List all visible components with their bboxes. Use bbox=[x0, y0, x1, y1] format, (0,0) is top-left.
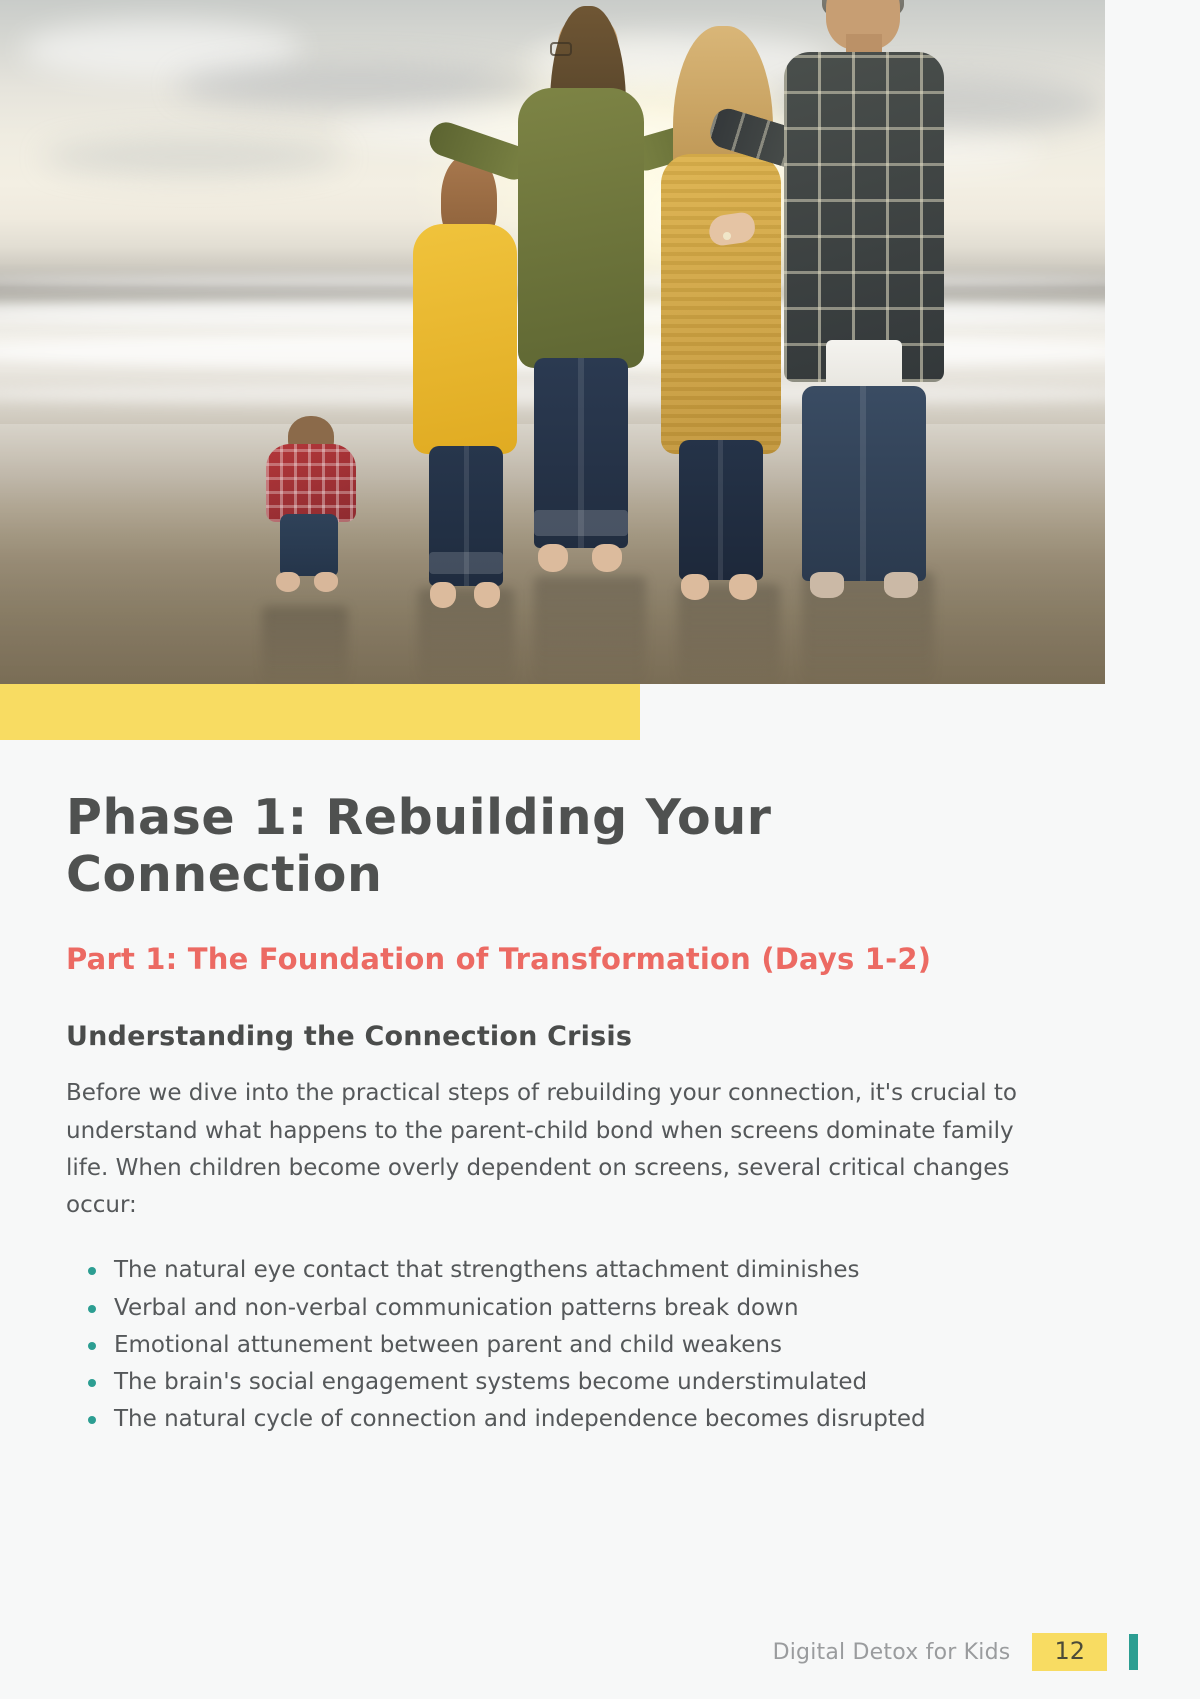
list-item: Emotional attunement between parent and … bbox=[114, 1327, 1038, 1364]
jean-cuff bbox=[534, 510, 628, 536]
body-paragraph: Before we dive into the practical steps … bbox=[66, 1075, 1038, 1224]
plaid-shirt bbox=[784, 52, 944, 382]
list-item: The natural eye contact that strengthens… bbox=[114, 1252, 1038, 1289]
leg-separation bbox=[860, 386, 866, 581]
foot bbox=[276, 572, 300, 592]
footer-teal-tick bbox=[1129, 1634, 1138, 1670]
jean-cuff bbox=[429, 552, 503, 574]
page-title: Phase 1: Rebuilding Your Connection bbox=[66, 790, 1038, 904]
page-content: Phase 1: Rebuilding Your Connection Part… bbox=[66, 790, 1038, 1439]
figure-father-plaid-shirt bbox=[780, 0, 955, 628]
document-page: Phase 1: Rebuilding Your Connection Part… bbox=[0, 0, 1200, 1699]
figure-crouching-child bbox=[250, 416, 360, 596]
ring bbox=[723, 232, 731, 240]
foot bbox=[729, 574, 757, 600]
foot bbox=[884, 572, 918, 598]
list-item: The brain's social engagement systems be… bbox=[114, 1364, 1038, 1401]
foot bbox=[314, 572, 338, 592]
reflection bbox=[262, 606, 348, 684]
olive-sweater bbox=[518, 88, 644, 368]
foot bbox=[538, 544, 568, 572]
hero-image bbox=[0, 0, 1105, 684]
glasses-icon bbox=[550, 42, 572, 56]
red-plaid-jacket bbox=[266, 444, 356, 522]
list-item: The natural cycle of connection and inde… bbox=[114, 1401, 1038, 1438]
bullet-list: The natural eye contact that strengthens… bbox=[66, 1252, 1038, 1438]
leg-separation bbox=[718, 440, 723, 580]
cloud bbox=[44, 137, 344, 177]
foot bbox=[810, 572, 844, 598]
foot bbox=[474, 582, 500, 608]
jeans bbox=[280, 514, 338, 576]
page-subtitle: Part 1: The Foundation of Transformation… bbox=[66, 942, 1038, 977]
page-number-badge: 12 bbox=[1032, 1633, 1107, 1671]
foot bbox=[681, 574, 709, 600]
section-heading: Understanding the Connection Crisis bbox=[66, 1021, 1038, 1053]
foot bbox=[430, 582, 456, 608]
yellow-accent-bar bbox=[0, 684, 640, 740]
footer-document-title: Digital Detox for Kids bbox=[773, 1640, 1011, 1665]
list-item: Verbal and non-verbal communication patt… bbox=[114, 1290, 1038, 1327]
foot bbox=[592, 544, 622, 572]
cloud bbox=[177, 62, 537, 110]
figure-mother-olive-sweater bbox=[500, 6, 660, 626]
page-footer: Digital Detox for Kids 12 bbox=[773, 1633, 1138, 1671]
mustard-cardigan bbox=[661, 154, 781, 454]
